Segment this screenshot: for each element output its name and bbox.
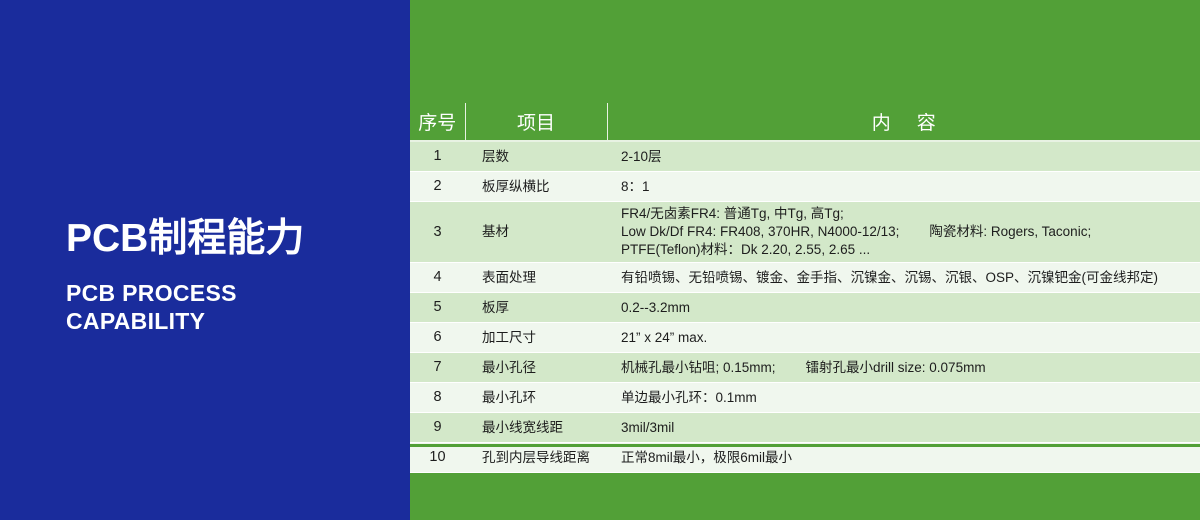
content-line: 21” x 24” max. <box>621 329 1196 346</box>
table-row: 1 层数 2-10层 <box>410 141 1200 171</box>
table-header: 序号 项目 内容 <box>410 103 1200 141</box>
content-line-main: 机械孔最小钻咀; 0.15mm; <box>621 360 776 375</box>
row-no: 9 <box>410 412 465 442</box>
capability-table: 序号 项目 内容 1 层数 2-10层 <box>410 103 1200 473</box>
table-header-row: 序号 项目 内容 <box>410 103 1200 141</box>
page-title-chinese: PCB制程能力 <box>66 216 396 262</box>
row-content: 有铅喷锡、无铅喷锡、镀金、金手指、沉镍金、沉锡、沉银、OSP、沉镍钯金(可金线邦… <box>607 262 1200 292</box>
row-item: 最小孔环 <box>465 382 607 412</box>
row-no: 4 <box>410 262 465 292</box>
content-line-extra: 镭射孔最小drill size: 0.075mm <box>806 360 986 375</box>
row-content: 0.2--3.2mm <box>607 292 1200 322</box>
table-row: 5 板厚 0.2--3.2mm <box>410 292 1200 322</box>
content-line: FR4/无卤素FR4: 普通Tg, 中Tg, 高Tg; <box>621 205 1196 223</box>
row-item: 加工尺寸 <box>465 322 607 352</box>
row-content: 机械孔最小钻咀; 0.15mm;镭射孔最小drill size: 0.075mm <box>607 352 1200 382</box>
title-panel: PCB制程能力 PCB PROCESS CAPABILITY <box>0 0 410 520</box>
content-line: 0.2--3.2mm <box>621 299 1196 316</box>
row-no: 3 <box>410 201 465 262</box>
row-item: 表面处理 <box>465 262 607 292</box>
row-item: 最小孔径 <box>465 352 607 382</box>
table-row: 9 最小线宽线距 3mil/3mil <box>410 412 1200 442</box>
row-no: 5 <box>410 292 465 322</box>
slide-root: PCB制程能力 PCB PROCESS CAPABILITY 序号 项目 内容 <box>0 0 1200 520</box>
row-content: 21” x 24” max. <box>607 322 1200 352</box>
content-panel: 序号 项目 内容 1 层数 2-10层 <box>410 0 1200 520</box>
table-row: 8 最小孔环 单边最小孔环：0.1mm <box>410 382 1200 412</box>
title-block: PCB制程能力 PCB PROCESS CAPABILITY <box>66 216 396 335</box>
table-row: 7 最小孔径 机械孔最小钻咀; 0.15mm;镭射孔最小drill size: … <box>410 352 1200 382</box>
column-header-content: 内容 <box>607 103 1200 141</box>
content-line: 有铅喷锡、无铅喷锡、镀金、金手指、沉镍金、沉锡、沉银、OSP、沉镍钯金(可金线邦… <box>621 269 1196 286</box>
column-header-no: 序号 <box>410 103 465 141</box>
row-item: 板厚 <box>465 292 607 322</box>
column-header-item: 项目 <box>465 103 607 141</box>
column-header-content-part2: 容 <box>917 113 936 134</box>
content-line: 3mil/3mil <box>621 419 1196 436</box>
subtitle-line-1: PCB PROCESS <box>66 279 396 307</box>
row-content: 2-10层 <box>607 141 1200 171</box>
table-body: 1 层数 2-10层 2 板厚纵横比 8：1 3 <box>410 141 1200 472</box>
row-no: 1 <box>410 141 465 171</box>
content-line: Low Dk/Df FR4: FR408, 370HR, N4000-12/13… <box>621 223 1196 241</box>
row-item: 最小线宽线距 <box>465 412 607 442</box>
row-item: 层数 <box>465 141 607 171</box>
row-content: 单边最小孔环：0.1mm <box>607 382 1200 412</box>
capability-table-wrapper: 序号 项目 内容 1 层数 2-10层 <box>410 103 1200 444</box>
row-no: 2 <box>410 171 465 201</box>
row-item: 基材 <box>465 201 607 262</box>
content-line-extra: 陶瓷材料: Rogers, Taconic; <box>929 224 1091 239</box>
row-content: FR4/无卤素FR4: 普通Tg, 中Tg, 高Tg; Low Dk/Df FR… <box>607 201 1200 262</box>
column-header-content-part1: 内 <box>872 113 891 134</box>
content-line: 2-10层 <box>621 148 1196 165</box>
content-line: 单边最小孔环：0.1mm <box>621 389 1196 406</box>
row-no: 6 <box>410 322 465 352</box>
page-subtitle-english: PCB PROCESS CAPABILITY <box>66 279 396 335</box>
row-item: 板厚纵横比 <box>465 171 607 201</box>
row-no: 8 <box>410 382 465 412</box>
content-line: 8：1 <box>621 178 1196 195</box>
content-line: 机械孔最小钻咀; 0.15mm;镭射孔最小drill size: 0.075mm <box>621 359 1196 376</box>
table-row: 6 加工尺寸 21” x 24” max. <box>410 322 1200 352</box>
content-line: 正常8mil最小，极限6mil最小 <box>621 449 1196 466</box>
row-no: 7 <box>410 352 465 382</box>
content-line: PTFE(Teflon)材料：Dk 2.20, 2.55, 2.65 ... <box>621 241 1196 259</box>
table-bottom-rule <box>410 444 1200 447</box>
table-row: 3 基材 FR4/无卤素FR4: 普通Tg, 中Tg, 高Tg; Low Dk/… <box>410 201 1200 262</box>
content-line-main: Low Dk/Df FR4: FR408, 370HR, N4000-12/13… <box>621 224 899 239</box>
subtitle-line-2: CAPABILITY <box>66 307 396 335</box>
row-content: 3mil/3mil <box>607 412 1200 442</box>
table-row: 4 表面处理 有铅喷锡、无铅喷锡、镀金、金手指、沉镍金、沉锡、沉银、OSP、沉镍… <box>410 262 1200 292</box>
table-row: 2 板厚纵横比 8：1 <box>410 171 1200 201</box>
row-content: 8：1 <box>607 171 1200 201</box>
